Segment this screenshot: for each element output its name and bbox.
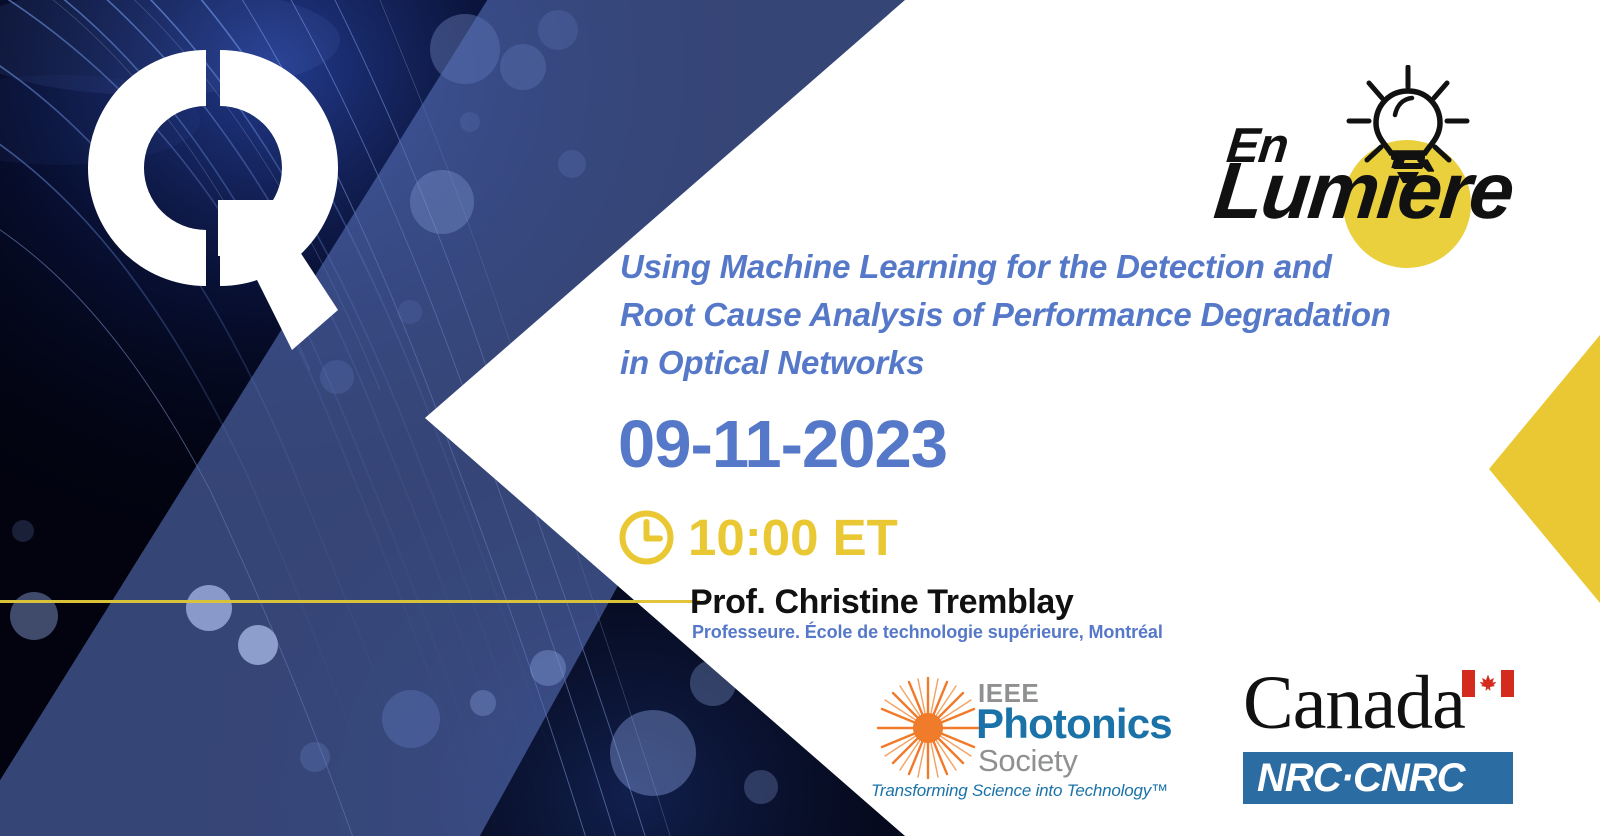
talk-title-line: in Optical Networks bbox=[620, 339, 1500, 387]
nrc-cnrc-wordmark: NRC·CNRC bbox=[1257, 756, 1465, 801]
yellow-divider-line bbox=[0, 600, 700, 603]
starburst-icon bbox=[873, 676, 983, 781]
clock-icon bbox=[618, 509, 675, 566]
en-lumiere-line2: Lumière bbox=[1210, 145, 1517, 237]
bokeh-dot bbox=[530, 650, 566, 686]
bokeh-dot bbox=[12, 520, 34, 542]
bokeh-dot bbox=[382, 690, 440, 748]
bokeh-dot bbox=[186, 585, 232, 631]
bokeh-dot bbox=[610, 710, 696, 796]
talk-time-row: 10:00 ET bbox=[618, 508, 898, 567]
talk-title-line: Root Cause Analysis of Performance Degra… bbox=[620, 291, 1500, 339]
en-lumiere-logo: En Lumière bbox=[1215, 35, 1590, 230]
speaker-name: Prof. Christine Tremblay bbox=[690, 583, 1073, 622]
talk-time: 10:00 ET bbox=[688, 508, 898, 567]
bokeh-dot bbox=[398, 300, 422, 324]
canadian-flag-icon bbox=[1462, 670, 1514, 697]
bokeh-dot bbox=[238, 625, 278, 665]
bokeh-dot bbox=[430, 14, 500, 84]
bokeh-dot bbox=[460, 112, 480, 132]
talk-title-line: Using Machine Learning for the Detection… bbox=[620, 243, 1500, 291]
talk-title: Using Machine Learning for the Detection… bbox=[620, 243, 1500, 388]
talk-date: 09-11-2023 bbox=[618, 406, 947, 483]
canada-wordmark: Canada bbox=[1243, 660, 1465, 747]
ieee-photonics-society-logo: IEEE Photonics Society Transforming Scie… bbox=[868, 668, 1183, 808]
bokeh-dot bbox=[558, 150, 586, 178]
society-wordmark: Society bbox=[978, 743, 1078, 779]
event-banner: En Lumière Using Machine Learning for th… bbox=[0, 0, 1600, 836]
ieee-tagline: Transforming Science into Technology™ bbox=[871, 781, 1168, 801]
speaker-affiliation: Professeure. École de technologie supéri… bbox=[692, 622, 1163, 643]
bokeh-dot bbox=[470, 690, 496, 716]
bokeh-dot bbox=[300, 742, 330, 772]
photonics-wordmark: Photonics bbox=[976, 700, 1172, 748]
q-mark-logo bbox=[70, 50, 350, 380]
canada-nrc-logo: Canada NRC·CNRC bbox=[1243, 660, 1513, 805]
bokeh-dot bbox=[744, 770, 778, 804]
bokeh-dot bbox=[538, 10, 578, 50]
bokeh-dot bbox=[500, 44, 546, 90]
bokeh-dot bbox=[410, 170, 474, 234]
